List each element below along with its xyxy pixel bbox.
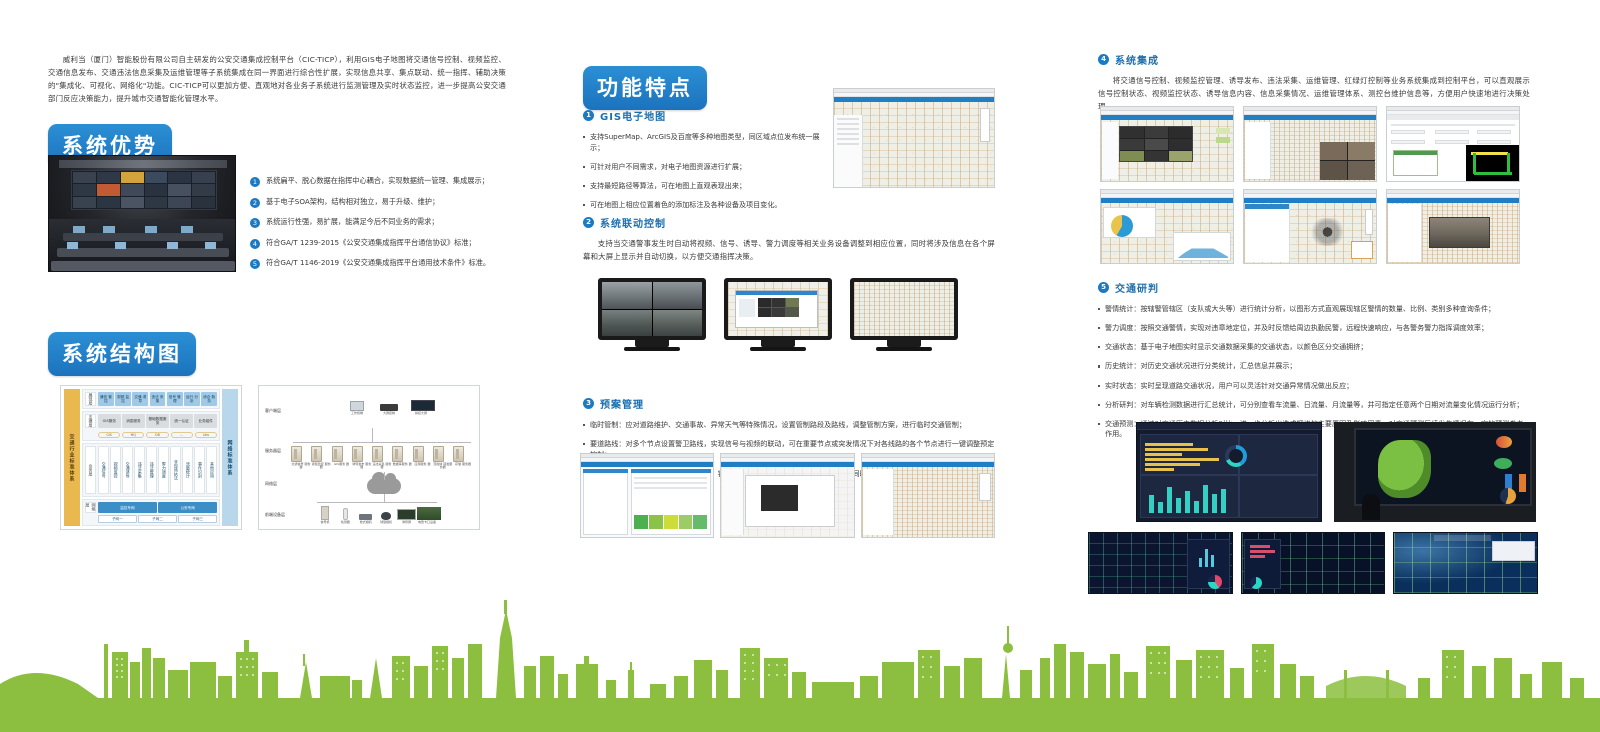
list-item: 4 符合GA/T 1239-2015《公安交通集成指挥平台通信协议》标准； [250, 238, 512, 249]
arch-cell: 监控专网 [98, 502, 157, 513]
topo-server: 存储 服务器 [453, 446, 473, 470]
list-number: 2 [250, 198, 260, 208]
list-text: 基于电子SOA架构，结构相对独立，易于升级、维护； [266, 197, 439, 207]
monitor-control-app [724, 278, 832, 366]
topo-client-label: 拼接大屏 [411, 412, 431, 415]
topo-server: 数据库服务 器 [392, 446, 412, 470]
arch-cell: 统一认证 [170, 414, 193, 428]
topo-client: 工作终端 [347, 401, 367, 415]
arch-tag: GIS [98, 432, 120, 438]
topo-device-label: 诱导屏 [397, 521, 417, 524]
dashboard-row-bottom [1088, 532, 1538, 594]
arch-row-business: 业务层 交通信号 视频监控 交通诱导 违法采集 违法管理 警力调度 非现场执法 … [82, 443, 220, 498]
screenshot-plan-diagram [720, 453, 854, 538]
topo-layer-label: 前端设备层 [265, 512, 285, 518]
arch-row-label: 网络层 [85, 502, 96, 513]
architecture-diagram: 交通行业标准体系 展现层 通信 管控 视频 监控 交通 诱导 违法 采集 信号 … [60, 385, 242, 530]
list-text: 符合GA/T 1239-2015《公安交通集成指挥平台通信协议》标准； [266, 238, 476, 248]
arch-cell: 交通诱导 [122, 446, 133, 495]
arch-row-presentation: 展现层 通信 管控 视频 监控 交通 诱导 违法 采集 信号 管理 运行 分析 … [82, 389, 220, 409]
topo-device: 检测器 [335, 508, 355, 524]
bullet-item: 实时状态：实时呈现道路交通状况，用户可以灵活针对交通异常情况做出反应； [1098, 381, 1530, 392]
topo-device: 枪式相机 [356, 510, 376, 524]
section-title: 系统集成 [1115, 52, 1159, 67]
arch-cell: 子网三 [178, 515, 217, 523]
section-system-integration: 4 系统集成 将交通信号控制、视频监控管理、诱导发布、违法采集、运维管理、红绿灯… [1098, 52, 1530, 114]
video-popup [1429, 217, 1490, 248]
arch-cell: 其他应用 [206, 446, 217, 495]
topo-device: 诱导屏 [397, 509, 417, 524]
arch-tag: MQ [122, 432, 144, 438]
topo-device: 信号机 [315, 506, 335, 524]
topo-server: 诱导发布 服务器 [352, 446, 372, 470]
topo-device-label: 球型相机 [376, 521, 396, 524]
dropdown-open[interactable] [1393, 150, 1438, 176]
section-heading: 1 GIS电子地图 [583, 108, 831, 123]
screenshot-row-plan [580, 453, 995, 538]
brochure-page: 威利当（厦门）智能股份有限公司自主研发的公安交通集成控制平台（CIC-TICP）… [0, 0, 1600, 732]
section-title: 系统联动控制 [600, 215, 666, 230]
topo-client: 拼接大屏 [411, 400, 435, 415]
arch-tag: DB [146, 432, 168, 438]
section-gis-map: 1 GIS电子地图 支持SuperMap、ArcGIS及百度等多种地图类型，同区… [583, 108, 831, 219]
photo-command-center [1334, 422, 1536, 522]
device-cluster [1305, 218, 1350, 246]
list-item: 2 基于电子SOA架构，结构相对独立，易于升级、维护； [250, 197, 512, 208]
bullet-item: 警力调度：按照交通警情，实现对违章地定位，并及时反馈给周边执勤民警，远程快速响应… [1098, 323, 1530, 334]
analysis-bullets: 警情统计：按辖警管辖区（支队或大头等）进行统计分析，以图形方式直观展现辖区警情的… [1098, 304, 1530, 440]
advantage-list: 1 系统扁平、脱心数据在指挥中心耦合，实现数据统一管理、集成展示； 2 基于电子… [250, 176, 512, 279]
dashboard-traffic-night-1 [1088, 532, 1233, 594]
screenshot-plan-map [861, 453, 995, 538]
map-sidepanel [834, 115, 863, 187]
bullet-item: 临时管制：应对道路维护、交通事故、异常天气等特殊情况，设置管制路段及路线，调整管… [583, 420, 995, 431]
topo-device: 球型相机 [376, 510, 396, 524]
topo-server: 违法采集 服务器 [372, 446, 392, 470]
topo-server: 交通信号 服务器 [291, 446, 311, 470]
arch-cell: 消息服务 [122, 414, 145, 428]
pill-structure-label: 系统结构图 [48, 332, 196, 376]
arch-cell: 非现场执法 [170, 446, 181, 495]
pill-functional-features: 功能特点 [583, 66, 707, 110]
screenshot-gis-map [833, 88, 995, 188]
arch-cell: 综合 勤务 [201, 392, 217, 406]
arch-cell: 信号 管理 [167, 392, 183, 406]
topo-client: 大屏控制 [379, 404, 399, 415]
section-title: 交通研判 [1115, 280, 1159, 295]
topo-server-label: 应用服务 器 [413, 463, 433, 466]
dashboard-statistics [1136, 422, 1322, 522]
list-item: 1 系统扁平、脱心数据在指挥中心耦合，实现数据统一管理、集成展示； [250, 176, 512, 187]
topo-server-label: 违法采集 服务器 [372, 463, 392, 470]
topo-client-label: 大屏控制 [379, 412, 399, 415]
pill-system-structure: 系统结构图 [48, 332, 196, 376]
arch-cell: 违法 采集 [150, 392, 166, 406]
arch-row-label: 展现层 [85, 392, 96, 406]
topo-server: 视频监控 服务器 [311, 446, 331, 470]
screenshot-grid-integration [1100, 106, 1520, 264]
arch-cell: 通信 管控 [98, 392, 114, 406]
section-title: 预案管理 [600, 396, 644, 411]
list-text: 系统扁平、脱心数据在指挥中心耦合，实现数据统一管理、集成展示； [266, 176, 489, 186]
topo-client-label: 工作终端 [347, 412, 367, 415]
section-number: 2 [583, 217, 594, 228]
arch-cell: 交通 诱导 [132, 392, 148, 406]
list-number: 4 [250, 239, 260, 249]
arch-left-band: 交通行业标准体系 [64, 389, 80, 526]
screenshot-plan-list [580, 453, 714, 538]
screenshot-signal-control [1100, 106, 1234, 182]
topo-device-label: 电警卡口设备 [417, 521, 437, 524]
section-heading: 2 系统联动控制 [583, 215, 995, 230]
video-wall [71, 170, 217, 210]
topo-server-label: 流媒体 转发服务器 [433, 463, 453, 470]
section-number: 1 [583, 110, 594, 121]
monitor-cctv [598, 278, 706, 366]
city-skyline-footer [0, 600, 1600, 732]
arch-cell: 视频监控 [110, 446, 121, 495]
list-number: 5 [250, 259, 260, 269]
section-linkage-control: 2 系统联动控制 支持当交通警事发生时自动将视频、信号、诱导、警力调度等相关业务… [583, 215, 995, 264]
topo-server-label: 存储 服务器 [453, 463, 473, 466]
bullet-item: 可针对用户不同需求，对电子地图资源进行扩展； [583, 162, 831, 173]
dashboard-traffic-night-2 [1241, 532, 1386, 594]
arch-tag: ... [171, 432, 193, 438]
arch-cell: 警力调度 [158, 446, 169, 495]
pie-chart [1111, 215, 1133, 237]
section-number: 4 [1098, 54, 1109, 65]
arch-row-support: 支撑层 GIS服务 消息服务 基础数据服务 统一认证 业务组件 GIS MQ D… [82, 411, 220, 441]
arch-cell: 公安专网 [158, 502, 217, 513]
topo-server: 应用服务 器 [413, 446, 433, 470]
structure-diagrams: 交通行业标准体系 展现层 通信 管控 视频 监控 交通 诱导 违法 采集 信号 … [60, 385, 480, 530]
dashboard-row-top [1136, 422, 1536, 522]
person-silhouette [1362, 494, 1380, 520]
list-text: 系统运行性强，易扩展，能满足今后不同业务的需求； [266, 217, 439, 227]
bullet-item: 历史统计：对历史交通状况进行分类统计，汇总信息并展示； [1098, 361, 1530, 372]
map-china-guangdong [1378, 440, 1431, 498]
screenshot-statistics-map [1100, 189, 1234, 265]
list-text: 符合GA/T 1146-2019《公安交通集成指挥平台通用技术条件》标准。 [266, 258, 490, 268]
screenshot-device-tree-map [1243, 189, 1377, 265]
control-room-photo [48, 155, 236, 272]
bullet-item: 警情统计：按辖警管辖区（支队或大头等）进行统计分析，以图形方式直观展现辖区警情的… [1098, 304, 1530, 315]
topo-server-label: 数据库服务 器 [392, 463, 412, 466]
gis-bullets: 支持SuperMap、ArcGIS及百度等多种地图类型，同区域点位发布统一展示；… [583, 132, 831, 211]
section-title: GIS电子地图 [600, 108, 666, 123]
list-number: 3 [250, 218, 260, 228]
arch-cell: 基础数据服务 [146, 414, 169, 428]
arch-cell: 流量统计 [182, 446, 193, 495]
topo-device-label: 检测器 [335, 521, 355, 524]
topo-server-label: 交通信号 服务器 [291, 463, 311, 470]
bullet-item: 交通状态：基于电子地图实时显示交通数据采集的交通状态，以颜色区分交通拥挤； [1098, 342, 1530, 353]
arch-tag: Libs [195, 432, 217, 438]
section-heading: 5 交通研判 [1098, 280, 1530, 295]
pill-features-label: 功能特点 [583, 66, 707, 110]
arch-cell: GIS服务 [98, 414, 121, 428]
section-number: 3 [583, 398, 594, 409]
topo-server: GIS服务 器 [332, 446, 352, 470]
topo-server-label: 诱导发布 服务器 [352, 463, 372, 470]
bullet-item: 支持SuperMap、ArcGIS及百度等多种地图类型，同区域点位发布统一展示； [583, 132, 831, 153]
monitor-row [598, 278, 958, 366]
arch-right-band: 网络标准体系 [222, 389, 238, 526]
arch-cell: 交通信号 [98, 446, 109, 495]
topo-server-label: 视频监控 服务器 [311, 463, 331, 470]
arch-cell: 违法采集 [134, 446, 145, 495]
topo-server: 流媒体 转发服务器 [433, 446, 453, 470]
arch-cell: 业务组件 [194, 414, 217, 428]
monitor-screen [598, 278, 706, 340]
topo-layer-label: 网络层 [265, 481, 277, 487]
arch-row-label: 支撑层 [85, 414, 96, 428]
screenshot-video-wall-map [1243, 106, 1377, 182]
arch-row-network: 网络层 监控专网 公安专网 子网一 子网二 子网三 [82, 499, 220, 526]
arch-cell: 子网一 [98, 515, 137, 523]
intro-paragraph: 威利当（厦门）智能股份有限公司自主研发的公安交通集成控制平台（CIC-TICP）… [48, 54, 506, 106]
monitor-gis-map [850, 278, 958, 366]
section-number: 5 [1098, 282, 1109, 293]
arch-cell: 违法管理 [146, 446, 157, 495]
arch-cell: 视频 监控 [115, 392, 131, 406]
section-heading: 3 预案管理 [583, 396, 995, 411]
topology-diagram: 客户端层 服务器层 网络层 前端设备层 工作终端 大屏控制 拼接大屏 [258, 385, 480, 530]
topo-device-label: 信号机 [315, 521, 335, 524]
topo-device: 电警卡口设备 [417, 507, 441, 524]
bullet-item: 分析研判：对车辆检测数据进行汇总统计，可分别查看车流量、日流量、月流量等，并可指… [1098, 400, 1530, 411]
topo-layer-label: 客户端层 [265, 408, 281, 414]
screenshot-live-video-map [1386, 189, 1520, 265]
map-toolbar [980, 108, 990, 142]
bullet-item: 支持最短路径等算法，可在地图上直观表现出来； [583, 181, 831, 192]
section-heading: 4 系统集成 [1098, 52, 1530, 67]
topo-layer-label: 服务器层 [265, 448, 281, 454]
list-number: 1 [250, 177, 260, 187]
bullet-item: 可在地图上相应位置着色的添加标注及各种设备及项目变化。 [583, 200, 831, 211]
monitor-screen [850, 278, 958, 340]
section-paragraph: 支持当交通警事发生时自动将视频、信号、诱导、警力调度等相关业务设备调整到相应位置… [583, 238, 995, 264]
network-cloud-icon [367, 478, 401, 494]
list-item: 5 符合GA/T 1146-2019《公安交通集成指挥平台通用技术条件》标准。 [250, 258, 512, 269]
monitor-screen [724, 278, 832, 340]
arch-cell: 事件识别 [194, 446, 205, 495]
topo-server-label: GIS服务 器 [332, 463, 352, 466]
screenshot-content [834, 102, 994, 187]
list-item: 3 系统运行性强，易扩展，能满足今后不同业务的需求； [250, 217, 512, 228]
arch-cell: 运行 分析 [184, 392, 200, 406]
screenshot-config-dialog [1386, 106, 1520, 182]
topo-device-label: 枪式相机 [356, 521, 376, 524]
arch-cell: 子网二 [138, 515, 177, 523]
dashboard-traffic-night-3 [1393, 532, 1538, 594]
arch-row-label: 业务层 [85, 446, 96, 495]
